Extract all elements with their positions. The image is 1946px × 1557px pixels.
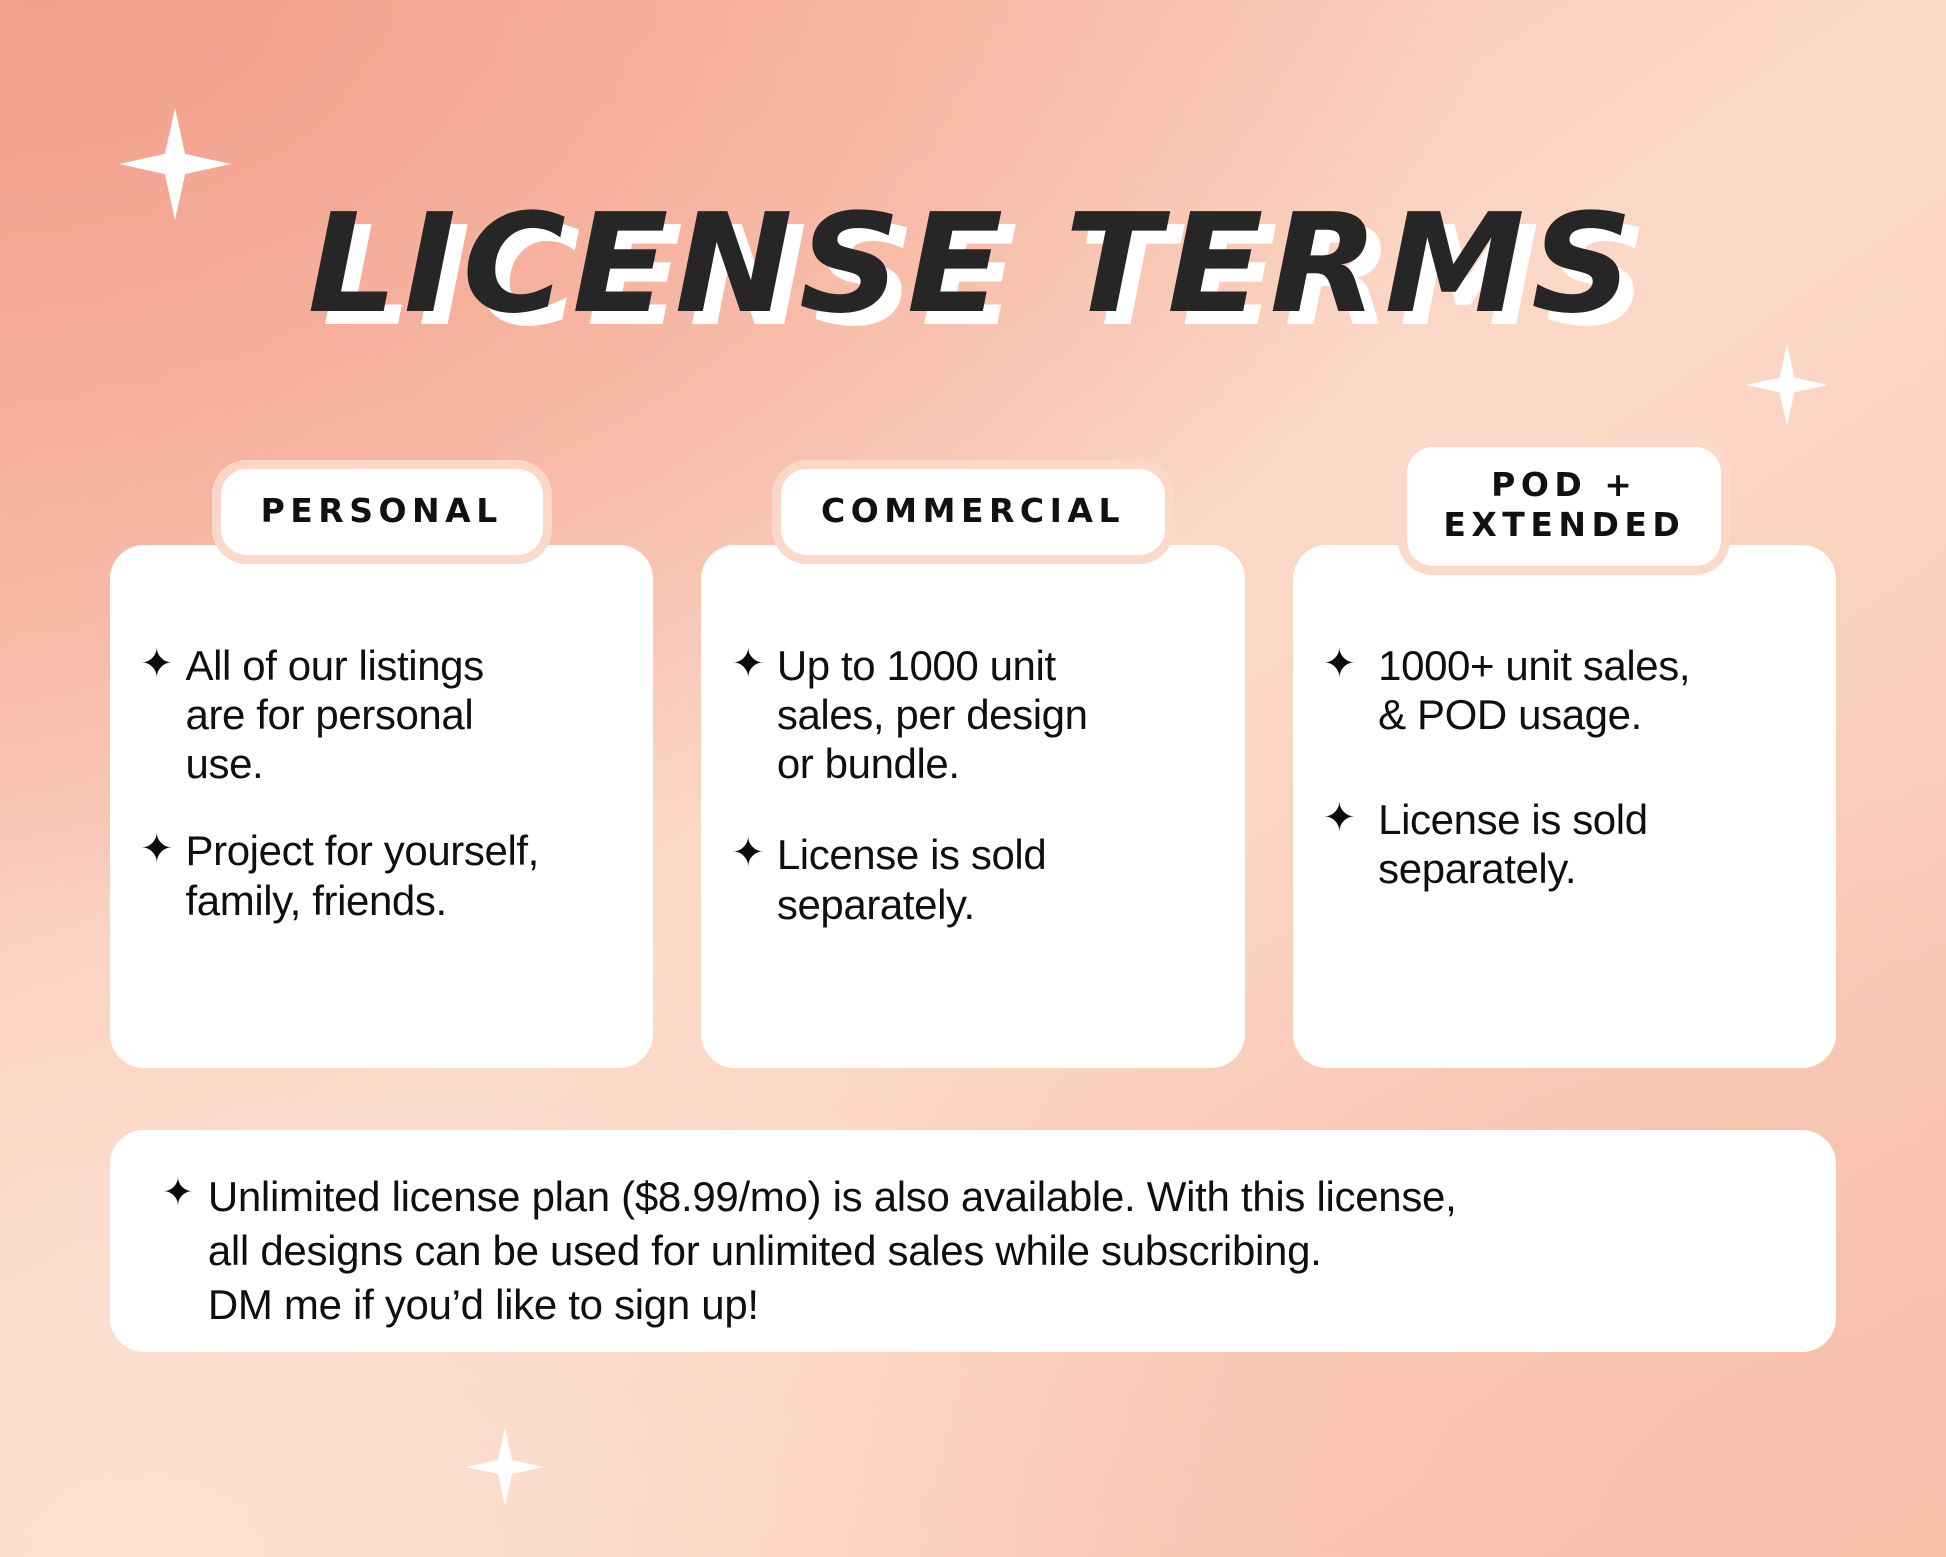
list-item-text: Project for yourself, family, friends.: [186, 826, 539, 924]
license-tier-commercial: COMMERCIAL ✦ Up to 1000 unit sales, per …: [701, 523, 1244, 1068]
license-tier-pod-extended: POD + EXTENDED ✦ 1000+ unit sales, & POD…: [1293, 523, 1836, 1068]
license-tier-personal: PERSONAL ✦ All of our listings are for p…: [110, 523, 653, 1068]
tier-bullet-list: ✦ All of our listings are for personal u…: [110, 641, 653, 925]
license-tiers: PERSONAL ✦ All of our listings are for p…: [110, 523, 1836, 1068]
tier-title: COMMERCIAL: [821, 491, 1125, 531]
list-item: ✦ Up to 1000 unit sales, per design or b…: [731, 641, 1210, 788]
list-item: ✦ 1000+ unit sales, & POD usage.: [1323, 641, 1802, 739]
page-title: LICENSE TERMS: [307, 196, 1638, 333]
list-item-text: 1000+ unit sales, & POD usage.: [1378, 641, 1690, 739]
star-bullet-icon: ✦: [162, 1170, 194, 1216]
banner-text: Unlimited license plan ($8.99/mo) is als…: [208, 1170, 1457, 1331]
unlimited-plan-banner: ✦ Unlimited license plan ($8.99/mo) is a…: [110, 1130, 1836, 1352]
tier-header-tab-commercial[interactable]: COMMERCIAL: [781, 469, 1165, 555]
list-item-text: License is sold separately.: [1378, 795, 1647, 893]
star-bullet-icon: ✦: [140, 826, 174, 872]
list-item: ✦ All of our listings are for personal u…: [140, 641, 619, 788]
list-item-text: Up to 1000 unit sales, per design or bun…: [777, 641, 1088, 788]
banner-content: ✦ Unlimited license plan ($8.99/mo) is a…: [110, 1130, 1836, 1331]
tier-title: PERSONAL: [261, 491, 503, 531]
star-bullet-icon: ✦: [731, 641, 765, 687]
tier-title: POD + EXTENDED: [1443, 465, 1685, 546]
star-bullet-icon: ✦: [731, 830, 765, 876]
star-bullet-icon: ✦: [1323, 795, 1357, 841]
tier-bullet-list: ✦ Up to 1000 unit sales, per design or b…: [701, 641, 1244, 971]
star-bullet-icon: ✦: [1323, 641, 1357, 687]
list-item: ✦ Project for yourself, family, friends.: [140, 826, 619, 924]
tier-bullet-list: ✦ 1000+ unit sales, & POD usage. ✦ Licen…: [1293, 641, 1836, 950]
tier-header-tab-personal[interactable]: PERSONAL: [221, 469, 543, 555]
list-item-text: All of our listings are for personal use…: [186, 641, 484, 788]
star-bullet-icon: ✦: [140, 641, 174, 687]
page-title-container: LICENSE TERMS: [0, 196, 1946, 333]
list-item: ✦ License is sold separately.: [1323, 795, 1802, 893]
list-item-text: License is sold separately.: [777, 830, 1046, 928]
list-item: ✦ License is sold separately.: [731, 830, 1210, 928]
tier-header-tab-pod-extended[interactable]: POD + EXTENDED: [1407, 447, 1721, 566]
